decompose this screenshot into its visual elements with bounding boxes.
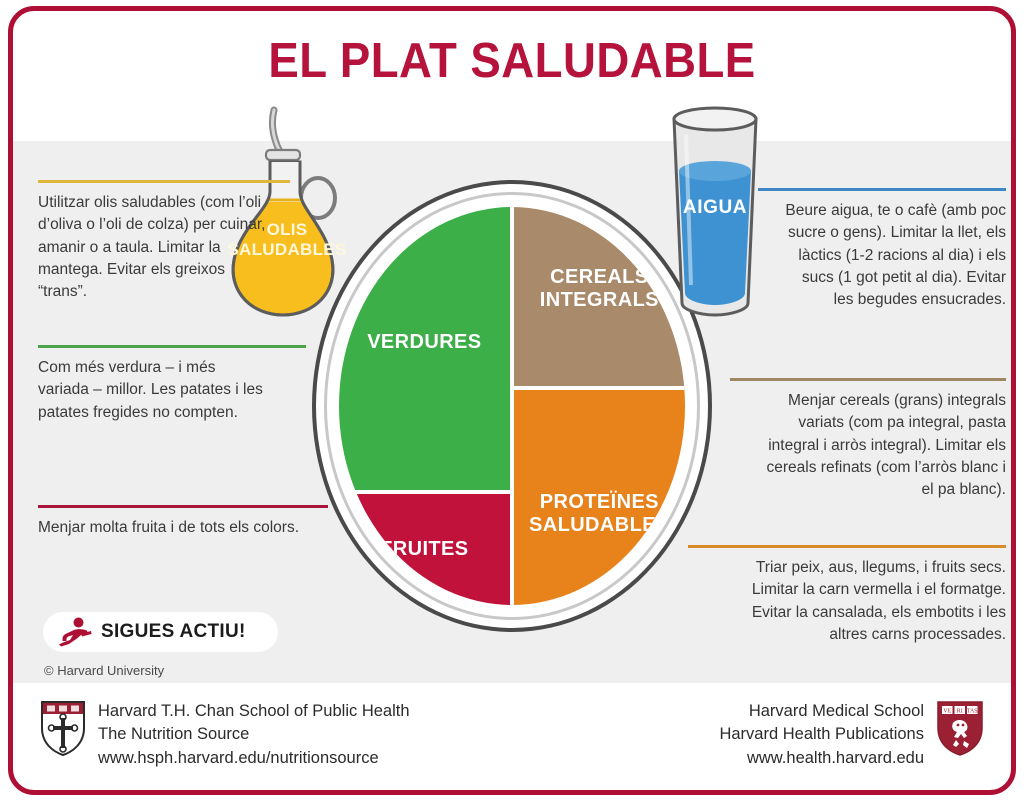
plate-label-vegetables: VERDURES [339,331,510,354]
harvard-chan-shield-icon [40,700,86,756]
footer-harvard-medical: Harvard Medical School Harvard Health Pu… [719,700,984,770]
footer-right-line3[interactable]: www.health.harvard.edu [719,747,924,770]
be-active-label: SIGUES ACTIU! [101,621,246,643]
callout-rule-protein [688,545,1006,548]
shield-motto-ri: RI [957,708,963,714]
callout-water: Beure aigua, te o cafè (amb poc sucre o … [778,188,1006,312]
callout-text-protein: Triar peix, aus, llegums, i fruits secs.… [712,557,1006,646]
water-glass-label: AIGUA [660,197,770,219]
callout-rule-fruits [38,505,328,508]
callout-text-fruits: Menjar molta fruita i de tots els colors… [38,517,306,539]
callout-protein: Triar peix, aus, llegums, i fruits secs.… [712,545,1006,646]
plate-quadrant-protein: PROTEÏNES SALUDABLES [514,390,685,605]
running-person-icon [57,617,93,647]
footer-left-line1: Harvard T.H. Chan School of Public Healt… [98,700,410,723]
plate-label-fruits: FRUITES [339,538,510,561]
callout-grains: Menjar cereals (grans) integrals variats… [752,378,1006,502]
callout-text-water: Beure aigua, te o cafè (amb poc sucre o … [778,200,1006,312]
plate-label-protein: PROTEÏNES SALUDABLES [514,491,685,537]
footer-right-line2: Harvard Health Publications [719,723,924,746]
callout-text-vegetables: Com més verdura – i més variada – millor… [38,357,270,424]
callout-text-oils: Utilitzar olis saludables (com l’oli d’o… [38,192,270,304]
footer-left-text: Harvard T.H. Chan School of Public Healt… [98,700,410,770]
callout-text-grains: Menjar cereals (grans) integrals variats… [752,390,1006,502]
plate-label-protein-line1: PROTEÏNES [514,491,685,514]
copyright-text: © Harvard University [44,663,164,678]
shield-motto-tas: TAS [967,708,978,714]
plate-quadrant-vegetables: VERDURES [339,207,514,494]
plate-quadrant-fruits: FRUITES [339,494,514,605]
footer-right-text: Harvard Medical School Harvard Health Pu… [719,700,924,770]
footer-left-line2: The Nutrition Source [98,723,410,746]
callout-fruits: Menjar molta fruita i de tots els colors… [38,505,306,539]
footer-harvard-chan: Harvard T.H. Chan School of Public Healt… [40,700,410,770]
page-title: EL PLAT SALUDABLE [36,33,988,89]
harvard-medical-shield-icon: VE RI TAS [936,700,984,756]
shield-motto-ve: VE [943,708,951,714]
be-active-badge[interactable]: SIGUES ACTIU! [43,612,278,652]
footer-right-line1: Harvard Medical School [719,700,924,723]
callout-vegetables: Com més verdura – i més variada – millor… [38,345,270,424]
healthy-eating-plate-poster: EL PLAT SALUDABLE Utilitzar olis saludab… [0,0,1024,801]
callout-oils: Utilitzar olis saludables (com l’oli d’o… [38,180,270,304]
callout-rule-vegetables [38,345,306,348]
footer-left-line3[interactable]: www.hsph.harvard.edu/nutritionsource [98,747,410,770]
plate-quadrants: VERDURES FRUITES CEREALS INTEGRALS PROTE… [339,207,685,605]
callout-rule-water [758,188,1006,191]
water-glass-icon: AIGUA [660,105,770,320]
plate-label-protein-line2: SALUDABLES [514,514,685,537]
callout-rule-grains [730,378,1006,381]
callout-rule-oils [38,180,290,183]
